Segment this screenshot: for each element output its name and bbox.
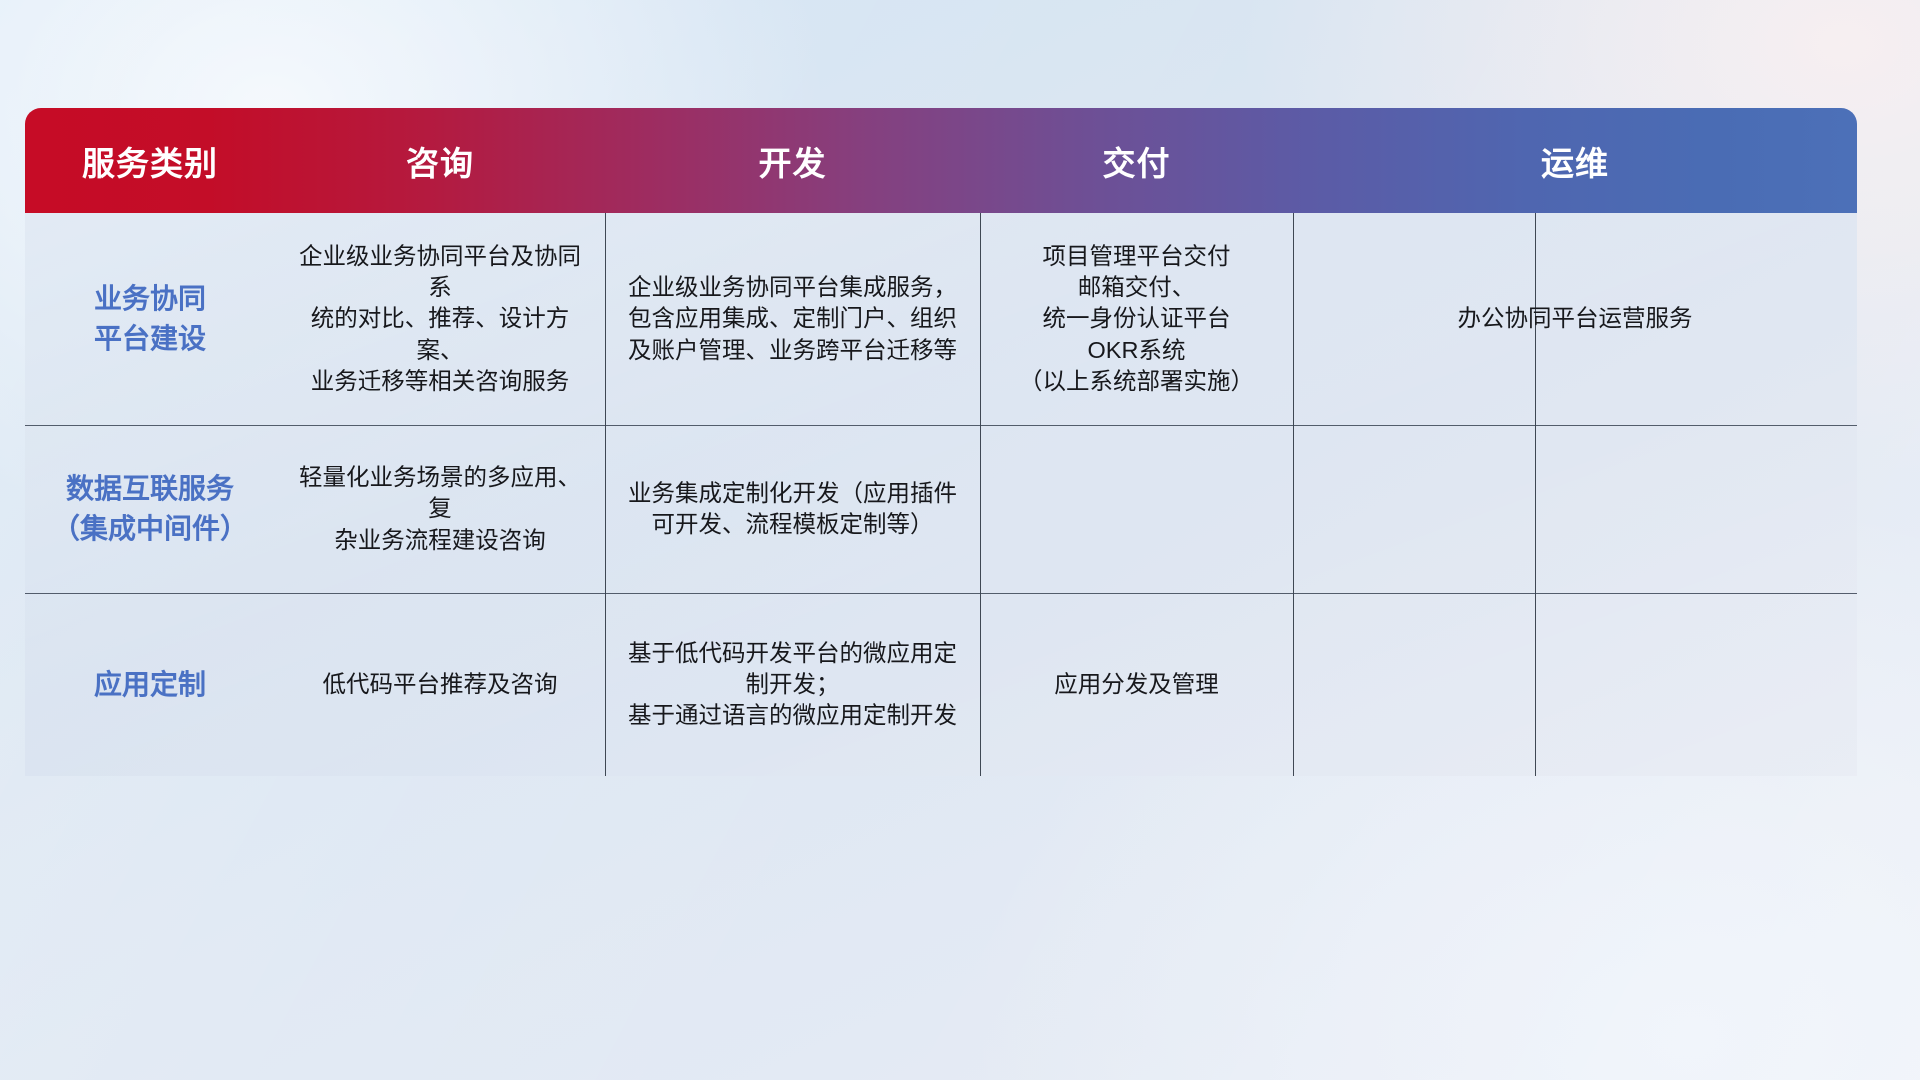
row-label-app-customization: 应用定制 <box>25 593 275 776</box>
table-body: 业务协同 平台建设 企业级业务协同平台及协同系 统的对比、推荐、设计方案、 业务… <box>25 213 1857 776</box>
cell-r2-consulting: 轻量化业务场景的多应用、复 杂业务流程建设咨询 <box>275 425 605 593</box>
cell-r1-consulting: 企业级业务协同平台及协同系 统的对比、推荐、设计方案、 业务迁移等相关咨询服务 <box>275 213 605 425</box>
cell-r2-delivery <box>980 425 1293 593</box>
column-header-delivery-label: 交付 <box>1103 137 1171 185</box>
cell-r2-development: 业务集成定制化开发（应用插件 可开发、流程模板定制等） <box>605 425 980 593</box>
table-row: 业务协同 平台建设 企业级业务协同平台及协同系 统的对比、推荐、设计方案、 业务… <box>25 213 1857 425</box>
table-row: 应用定制 低代码平台推荐及咨询 基于低代码开发平台的微应用定 制开发； 基于通过… <box>25 593 1857 776</box>
row-label-data-interconnect: 数据互联服务 （集成中间件） <box>25 425 275 593</box>
cell-r1-development: 企业级业务协同平台集成服务， 包含应用集成、定制门户、组织 及账户管理、业务跨平… <box>605 213 980 425</box>
column-header-operations: 运维 <box>1293 108 1857 213</box>
column-header-development-label: 开发 <box>759 137 827 185</box>
column-header-consulting: 咨询 <box>275 108 605 213</box>
column-header-operations-label: 运维 <box>1541 137 1609 185</box>
table-row: 数据互联服务 （集成中间件） 轻量化业务场景的多应用、复 杂业务流程建设咨询 业… <box>25 425 1857 593</box>
column-header-delivery: 交付 <box>980 108 1293 213</box>
column-header-development: 开发 <box>605 108 980 213</box>
column-header-consulting-label: 咨询 <box>406 137 474 185</box>
cell-r3-operations <box>1293 593 1857 776</box>
column-header-category: 服务类别 <box>25 108 275 213</box>
cell-r2-operations <box>1293 425 1857 593</box>
row-label-business-collaboration: 业务协同 平台建设 <box>25 213 275 425</box>
cell-r1-delivery: 项目管理平台交付 邮箱交付、 统一身份认证平台 OKR系统 （以上系统部署实施） <box>980 213 1293 425</box>
slide-canvas: 服务类别 咨询 开发 交付 运维 <box>0 0 1920 1080</box>
cell-r1-operations: 办公协同平台运营服务 <box>1293 213 1857 425</box>
service-matrix-table: 服务类别 咨询 开发 交付 运维 <box>25 108 1857 776</box>
cell-r3-development: 基于低代码开发平台的微应用定 制开发； 基于通过语言的微应用定制开发 <box>605 593 980 776</box>
column-header-category-label: 服务类别 <box>82 137 218 185</box>
cell-r3-consulting: 低代码平台推荐及咨询 <box>275 593 605 776</box>
table-header-row: 服务类别 咨询 开发 交付 运维 <box>25 108 1857 213</box>
cell-r3-delivery: 应用分发及管理 <box>980 593 1293 776</box>
